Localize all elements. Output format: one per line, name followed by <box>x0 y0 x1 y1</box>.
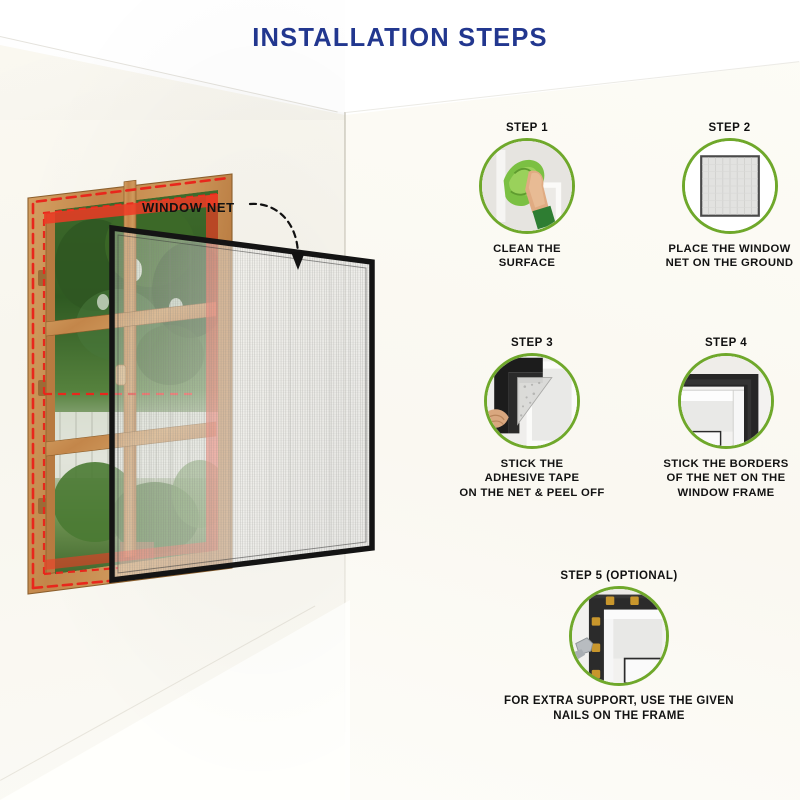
step-2-title: STEP 2 <box>647 122 800 134</box>
window-net-panel <box>112 228 372 580</box>
page-title: INSTALLATION STEPS <box>0 24 800 53</box>
step-4-title: STEP 4 <box>642 337 800 349</box>
step-card-3[interactable]: STEP 3 <box>452 337 612 500</box>
step-card-4[interactable]: STEP 4 STICK THE BORDERS OF TH <box>642 337 800 500</box>
step-card-5[interactable]: STEP 5 (OPTIONAL) <box>488 570 750 723</box>
step-2-image <box>682 138 778 234</box>
curved-dashed-arrow-icon <box>246 198 326 280</box>
hand-with-green-cloth-icon <box>482 141 572 231</box>
nails-on-frame-icon <box>572 589 666 683</box>
step-3-caption: STICK THE ADHESIVE TAPE ON THE NET & PEE… <box>452 457 612 500</box>
step-2-caption: PLACE THE WINDOW NET ON THE GROUND <box>647 242 800 271</box>
step-5-image <box>569 586 669 686</box>
window-net-illustration: WINDOW NET <box>0 150 420 650</box>
window-net-graphic <box>0 150 420 650</box>
net-border-on-frame-icon <box>681 356 771 446</box>
window-net-label: WINDOW NET <box>142 200 235 215</box>
step-card-2[interactable]: STEP 2 PLACE THE W <box>647 122 800 271</box>
step-5-caption: FOR EXTRA SUPPORT, USE THE GIVEN NAILS O… <box>488 694 750 723</box>
step-1-image <box>479 138 575 234</box>
net-square-on-ground-icon <box>685 141 775 231</box>
peel-adhesive-tape-icon <box>487 356 577 446</box>
installation-steps-infographic: INSTALLATION STEPS <box>0 0 800 800</box>
step-card-1[interactable]: STEP 1 <box>452 122 602 271</box>
step-1-caption: CLEAN THE SURFACE <box>452 242 602 271</box>
step-1-title: STEP 1 <box>452 122 602 134</box>
step-3-image <box>484 353 580 449</box>
step-3-title: STEP 3 <box>452 337 612 349</box>
step-4-caption: STICK THE BORDERS OF THE NET ON THE WIND… <box>642 457 800 500</box>
steps-panel: STEP 1 <box>430 0 800 800</box>
step-5-title: STEP 5 (OPTIONAL) <box>488 570 750 582</box>
step-4-image <box>678 353 774 449</box>
